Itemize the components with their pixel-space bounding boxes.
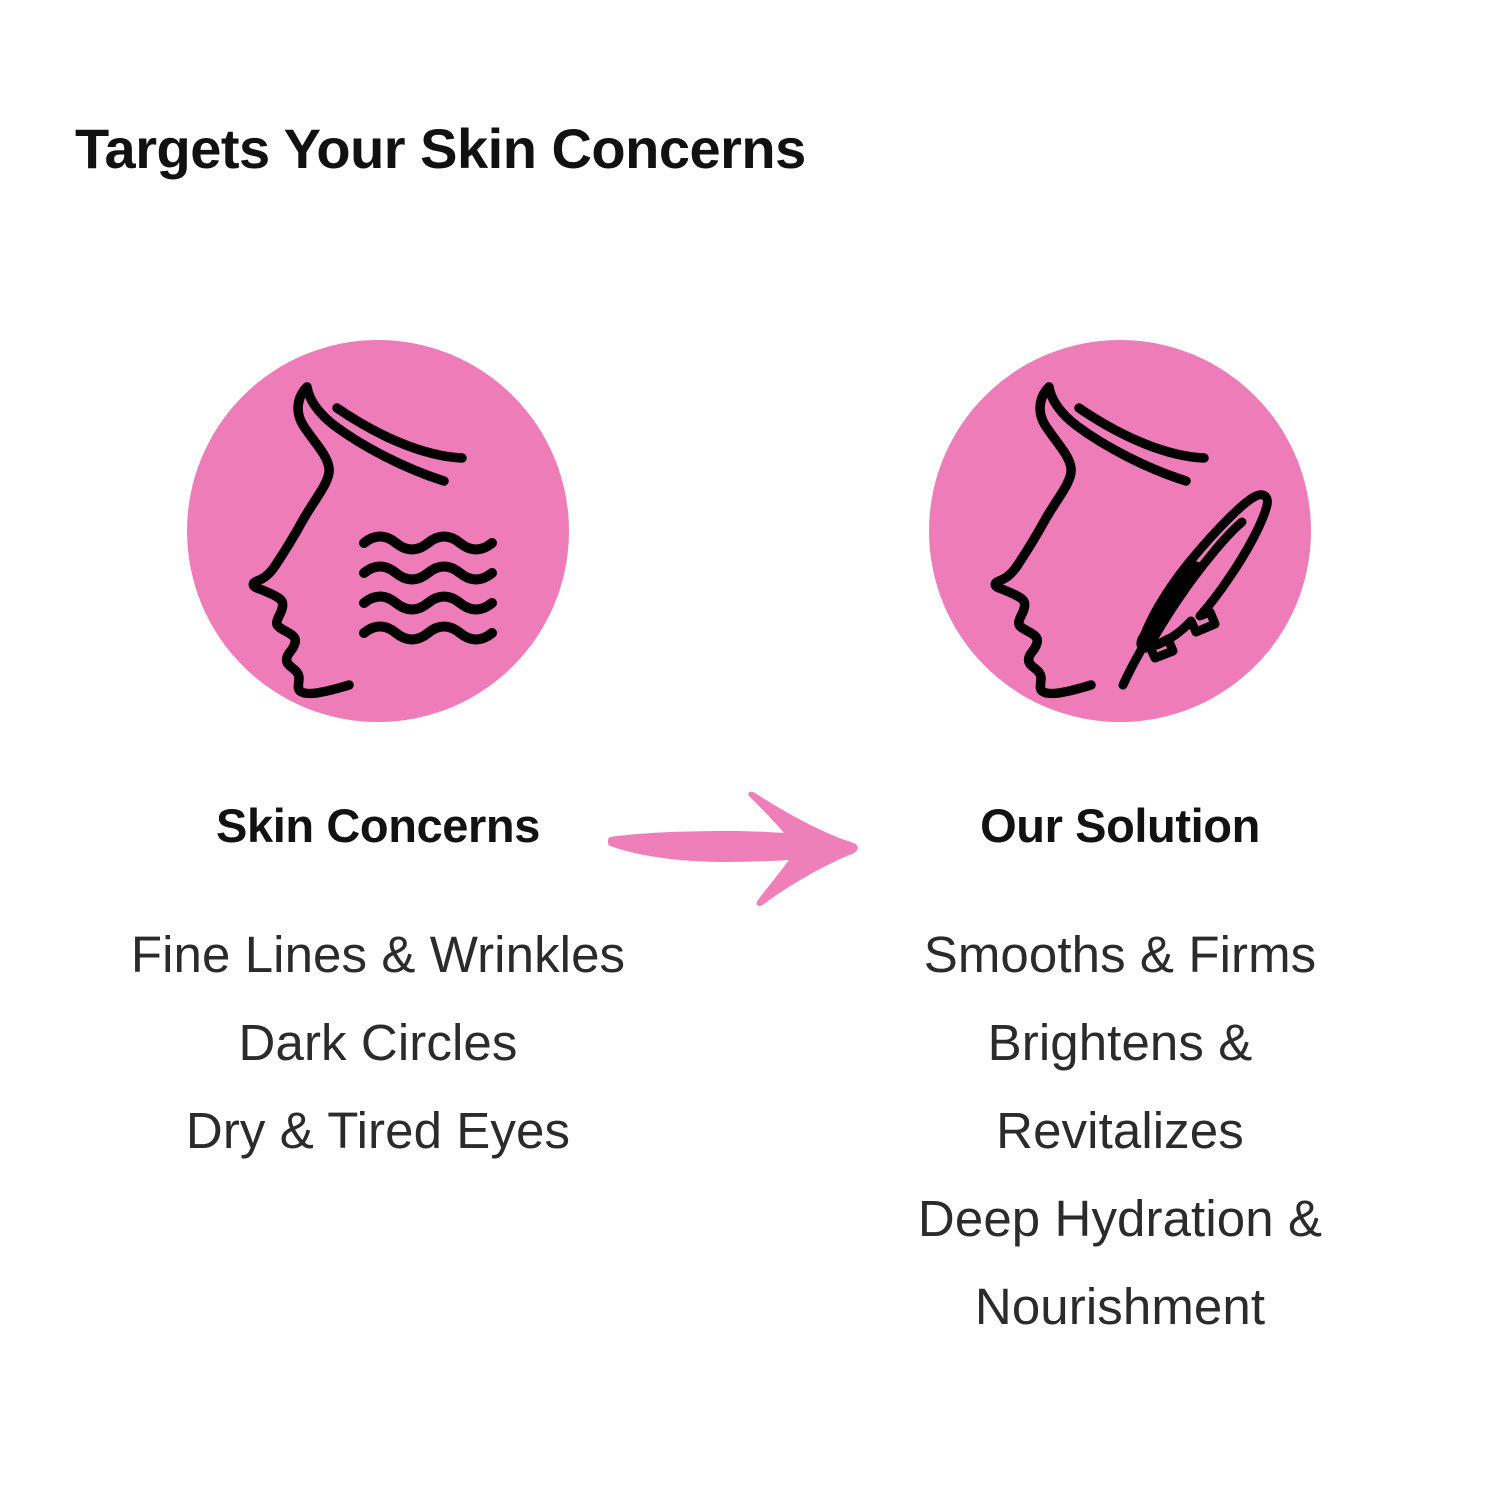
- list-item: Dark Circles: [118, 999, 638, 1087]
- solution-list: Smooths & Firms Brightens & Revitalizes …: [860, 911, 1380, 1351]
- face-profile-feather-icon: [929, 340, 1311, 722]
- comparison-board: Skin Concerns Fine Lines & Wrinkles Dark…: [0, 0, 1500, 1500]
- list-item: Smooths & Firms: [860, 911, 1380, 999]
- column-label-our-solution: Our Solution: [860, 798, 1380, 853]
- column-our-solution: Our Solution Smooths & Firms Brightens &…: [860, 340, 1380, 1351]
- list-item: Fine Lines & Wrinkles: [118, 911, 638, 999]
- face-profile-wrinkles-icon: [187, 340, 569, 722]
- list-item: Brightens & Revitalizes: [860, 999, 1380, 1175]
- right-arrow-icon: [608, 790, 878, 910]
- list-item: Deep Hydration & Nourishment: [860, 1175, 1380, 1351]
- column-label-skin-concerns: Skin Concerns: [118, 798, 638, 853]
- list-item: Dry & Tired Eyes: [118, 1087, 638, 1175]
- concerns-list: Fine Lines & Wrinkles Dark Circles Dry &…: [118, 911, 638, 1175]
- column-skin-concerns: Skin Concerns Fine Lines & Wrinkles Dark…: [118, 340, 638, 1175]
